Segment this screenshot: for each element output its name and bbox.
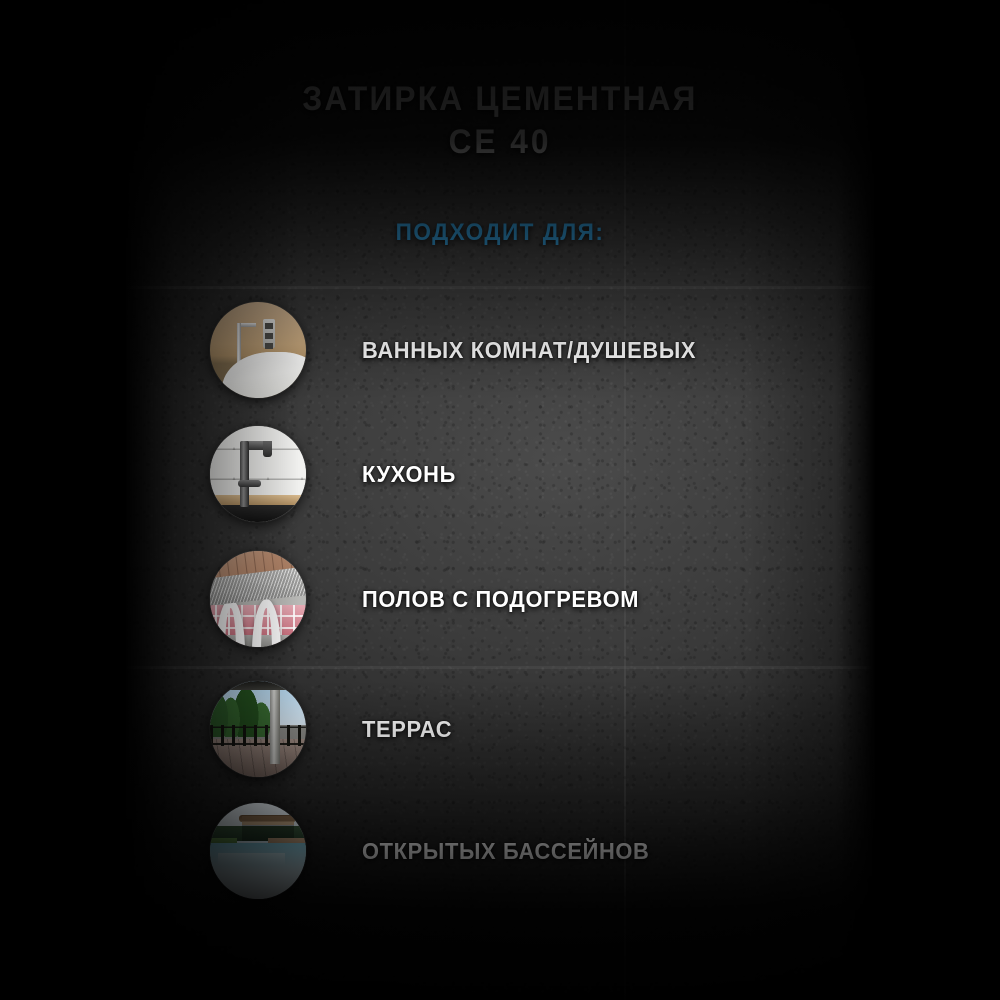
railing-shape [210,725,306,746]
list-item-outdoor-pool: ОТКРЫТЫХ БАССЕЙНОВ [210,803,850,899]
outdoor-pool-thumbnail [210,803,306,899]
list-item-label: ПОЛОВ С ПОДОГРЕВОМ [362,586,639,613]
poster-canvas: ЗАТИРКА ЦЕМЕНТНАЯ CE 40 ПОДХОДИТ ДЛЯ: ВА… [0,0,1000,1000]
list-item-label: ВАННЫХ КОМНАТ/ДУШЕВЫХ [362,337,696,364]
bathtub-shape [222,352,306,398]
feature-list: ВАННЫХ КОМНАТ/ДУШЕВЫХ КУХОНЬ [0,0,1000,1000]
list-item-label: ТЕРРАС [362,716,452,743]
countertop-shape [210,495,306,505]
pool-water-shape [210,843,306,899]
sink-shape [210,505,306,522]
faucet-stem-shape [240,441,249,506]
shower-valve-shape [263,319,275,348]
list-item-label: КУХОНЬ [362,461,456,488]
list-item-terrace: ТЕРРАС [210,681,850,777]
list-item-bathroom: ВАННЫХ КОМНАТ/ДУШЕВЫХ [210,302,850,398]
heated-floor-thumbnail [210,551,306,647]
list-item-kitchen: КУХОНЬ [210,426,850,522]
bathroom-shower-thumbnail [210,302,306,398]
column-shape [270,681,281,764]
hex-tile-pattern [210,426,306,501]
list-item-heated-floor: ПОЛОВ С ПОДОГРЕВОМ [210,551,850,647]
list-item-label: ОТКРЫТЫХ БАССЕЙНОВ [362,838,650,865]
faucet-handle-shape [238,480,261,487]
terrace-thumbnail [210,681,306,777]
roof-soffit-shape [210,681,306,690]
water-reflection-shape [218,853,285,866]
kitchen-thumbnail [210,426,306,522]
